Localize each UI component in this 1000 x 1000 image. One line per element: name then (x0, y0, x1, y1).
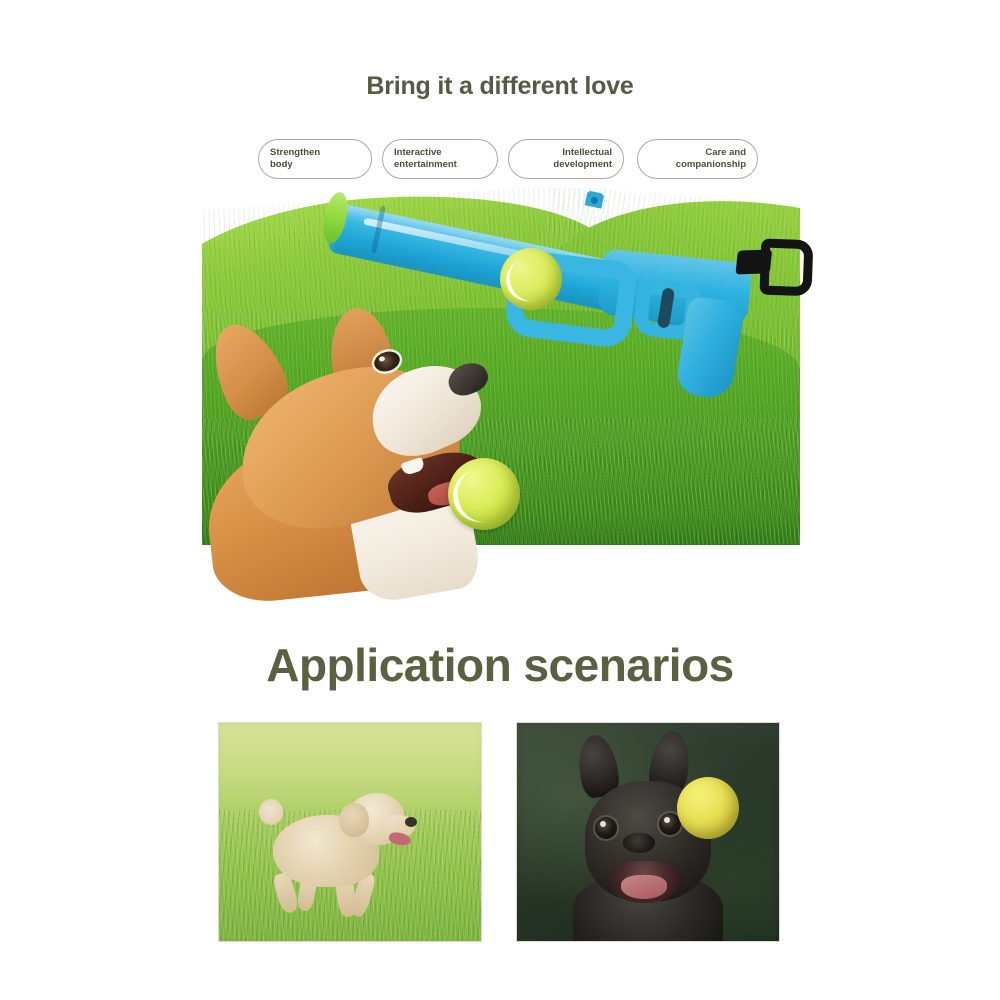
tennis-ball-in-holder (500, 248, 562, 310)
scenario-image-poodle (218, 722, 482, 942)
poodle-nose (405, 817, 417, 827)
feature-pill-label: Intellectual development (553, 147, 612, 171)
product-detail-page: Bring it a different love Strengthen bod… (0, 0, 1000, 1000)
feature-pill-row: Strengthen body Interactive entertainmen… (258, 139, 758, 181)
bulldog-eye-left (595, 817, 617, 839)
scenario-image-french-bulldog (516, 722, 780, 942)
poodle-ear (339, 803, 369, 837)
hero-product-image (202, 188, 800, 592)
corgi-dog (202, 306, 532, 592)
tennis-ball-scenario (677, 777, 739, 839)
feature-pill-interactive-entertainment: Interactive entertainment (382, 139, 498, 179)
section-heading-application-scenarios: Application scenarios (0, 638, 1000, 692)
feature-pill-label: Care and companionship (676, 147, 746, 171)
bulldog-tongue (621, 875, 667, 899)
feature-pill-care-companionship: Care and companionship (637, 139, 758, 179)
launcher-stock (733, 238, 813, 303)
poodle-tail (259, 799, 283, 825)
launcher-barrel-lug (585, 190, 605, 208)
stock-loop-handle (759, 238, 813, 296)
feature-pill-label: Interactive entertainment (394, 147, 457, 171)
bulldog-nose (623, 833, 655, 853)
feature-pill-intellectual-development: Intellectual development (508, 139, 624, 179)
page-title: Bring it a different love (0, 72, 1000, 101)
feature-pill-strengthen-body: Strengthen body (258, 139, 372, 179)
feature-pill-label: Strengthen body (270, 147, 320, 171)
tennis-ball-hero (448, 458, 520, 530)
